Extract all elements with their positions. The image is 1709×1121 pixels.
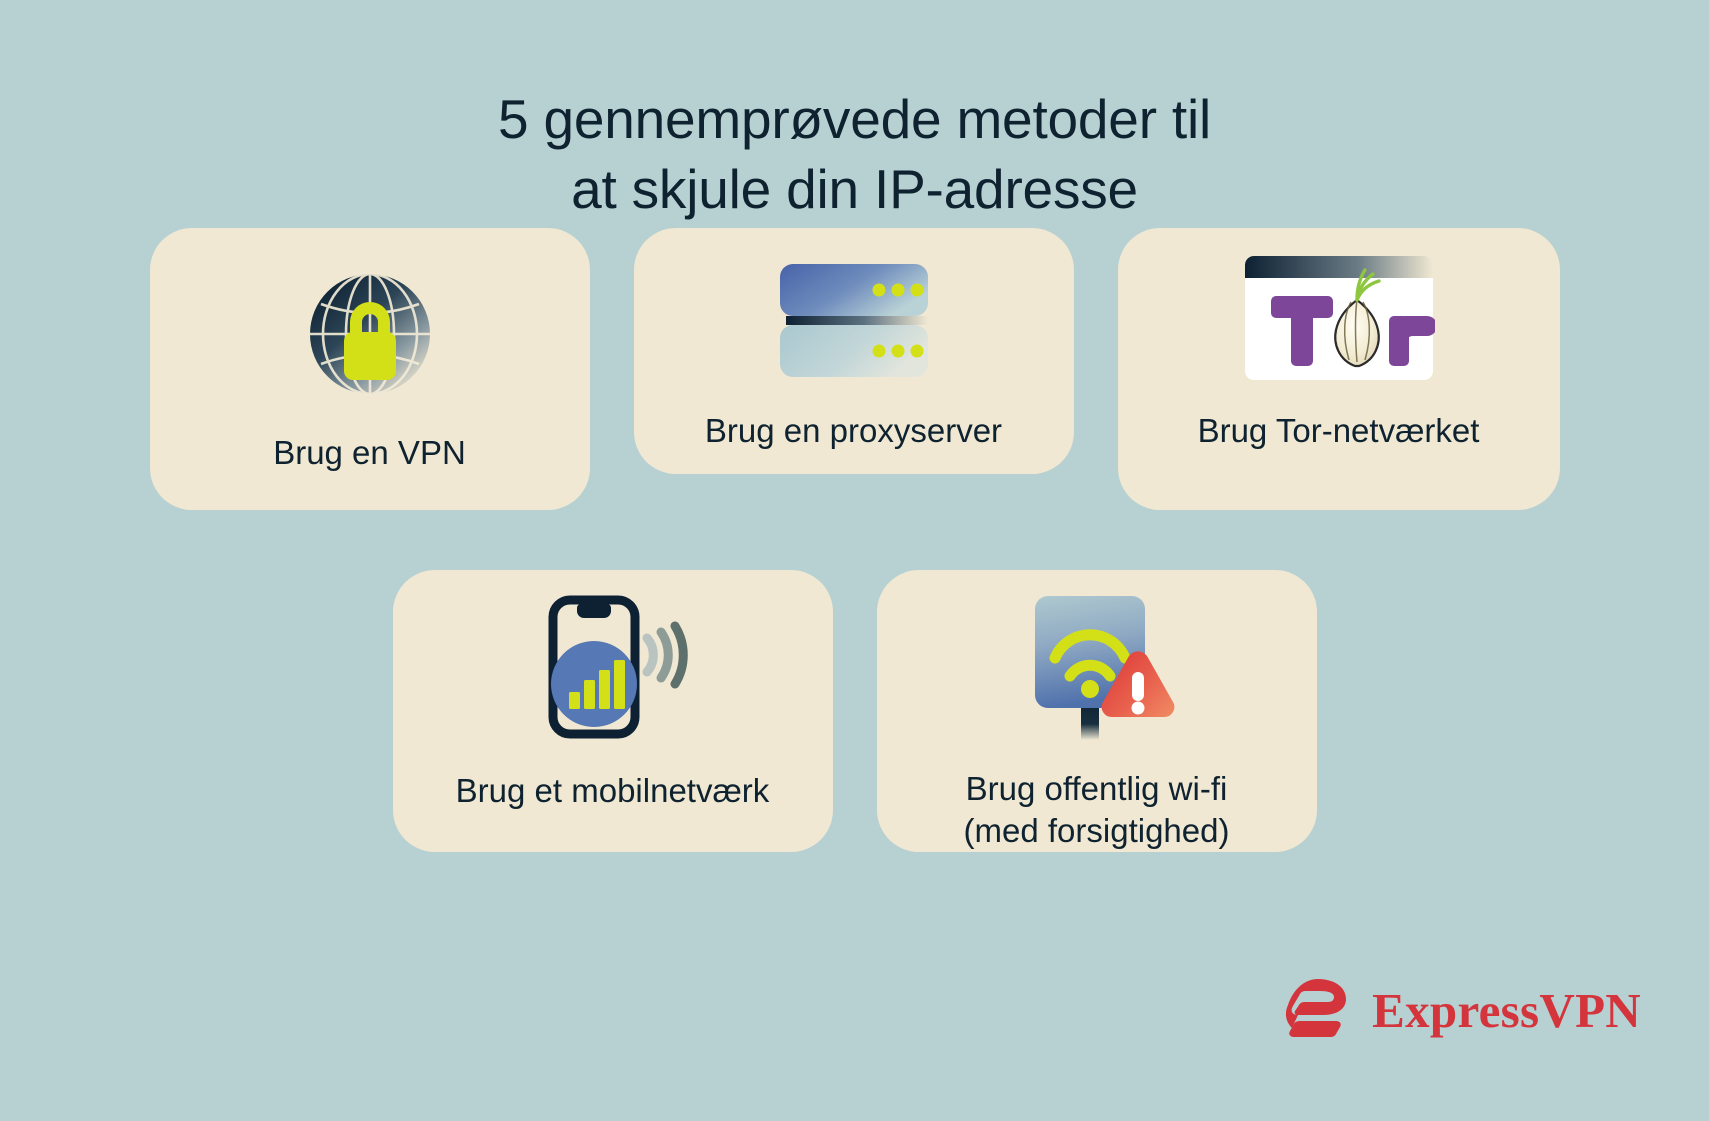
page-title-line-2: at skjule din IP-adresse [0,155,1709,225]
page-title-line-1: 5 gennemprøvede metoder til [0,85,1709,155]
method-card-label: Brug Tor-netværket [1198,410,1480,452]
method-card-mobile[interactable]: Brug et mobilnetværk [393,570,833,852]
method-card-label-line-2: (med forsigtighed) [964,812,1230,849]
method-card-label: Brug offentlig wi-fi (med forsigtighed) [964,768,1230,851]
page-title: 5 gennemprøvede metoder til at skjule di… [0,85,1709,225]
method-card-tor[interactable]: Brug Tor-netværket [1118,228,1560,510]
globe-lock-icon [296,260,444,408]
method-card-label: Brug en proxyserver [705,410,1002,452]
expressvpn-wordmark: ExpressVPN [1372,986,1641,1035]
methods-row-top: Brug en VPN [0,228,1709,510]
method-card-proxy[interactable]: Brug en proxyserver [634,228,1074,474]
expressvpn-e-mark-icon [1284,978,1356,1043]
method-card-label: Brug en VPN [273,432,466,474]
signal-waves-icon [647,626,683,684]
methods-row-bottom: Brug et mobilnetværk [0,570,1709,852]
wifi-dot [1081,680,1099,698]
method-card-label-line-1: Brug offentlig wi-fi [966,770,1228,807]
infographic-page: 5 gennemprøvede metoder til at skjule di… [0,0,1709,1121]
expressvpn-logo[interactable]: ExpressVPN [1284,978,1641,1043]
method-card-vpn[interactable]: Brug en VPN [150,228,590,510]
public-wifi-warning-icon [1019,592,1175,742]
tor-browser-icon [1243,254,1435,382]
method-card-label: Brug et mobilnetværk [456,770,770,812]
server-stack-icon [774,262,934,384]
method-card-wifi[interactable]: Brug offentlig wi-fi (med forsigtighed) [877,570,1317,852]
smartphone-signal-icon [525,592,701,740]
